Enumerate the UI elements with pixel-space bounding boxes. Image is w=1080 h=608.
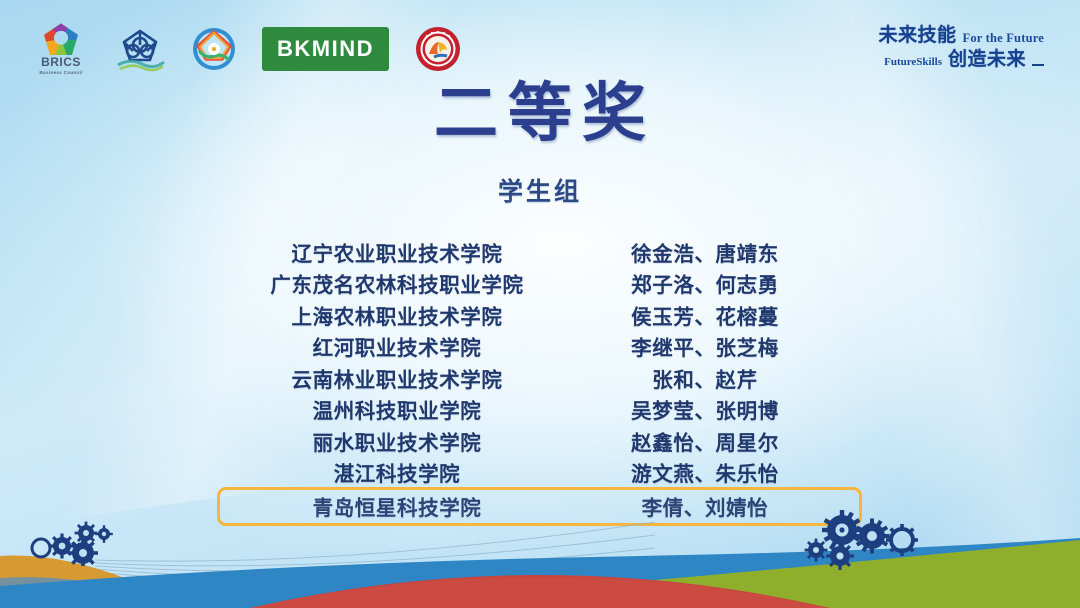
winner-names-label: 李继平、张芝梅 [631, 336, 779, 360]
futureskills-brand-lockup: 未来技能 For the Future FutureSkills 创造未来 [878, 26, 1044, 69]
winner-names-label: 郑子洛、何志勇 [631, 273, 779, 297]
winner-school-cell: 红河职业技术学院 [232, 331, 562, 361]
globe-star-emblem-logo [192, 27, 236, 71]
brics-pentagon-icon [44, 23, 78, 55]
winner-names-label: 侯玉芳、花榕蔓 [631, 305, 779, 329]
brics-business-council-logo: BRICS Business Council [34, 23, 88, 74]
winner-school-cell: 丽水职业技术学院 [232, 426, 562, 456]
winner-row: 丽水职业技术学院赵鑫怡、周星尔 [232, 425, 848, 457]
red-seal-emblem-icon [415, 26, 461, 72]
bottom-decoration [0, 500, 1080, 608]
winner-names-cell: 张和、赵芹 [562, 363, 848, 393]
winner-names-cell: 赵鑫怡、周星尔 [562, 426, 848, 456]
brand-underline-accent [1032, 64, 1044, 66]
red-seal-emblem-logo [415, 26, 461, 72]
winner-names-cell: 徐金浩、唐靖东 [562, 237, 848, 267]
winner-names-cell: 侯玉芳、花榕蔓 [562, 300, 848, 330]
winner-names-label: 吴梦莹、张明博 [631, 399, 779, 423]
brand-line-1: 未来技能 For the Future [878, 26, 1044, 45]
winner-names-cell: 游文燕、朱乐怡 [562, 457, 848, 487]
winner-school-label: 辽宁农业职业技术学院 [292, 242, 503, 266]
winner-school-cell: 辽宁农业职业技术学院 [232, 237, 562, 267]
bkmind-logo-label: BKMIND [277, 36, 374, 62]
award-slide: BRICS Business Council [0, 0, 1080, 608]
winner-school-label: 红河职业技术学院 [313, 336, 482, 360]
winner-school-label: 上海农林职业技术学院 [292, 305, 503, 329]
winner-row: 红河职业技术学院李继平、张芝梅 [232, 331, 848, 363]
winner-school-label: 温州科技职业学院 [313, 399, 482, 423]
winner-school-cell: 温州科技职业学院 [232, 394, 562, 424]
winner-names-label: 游文燕、朱乐怡 [631, 462, 779, 486]
gear-cluster-right [800, 510, 930, 570]
winner-list: 辽宁农业职业技术学院徐金浩、唐靖东广东茂名农林科技职业学院郑子洛、何志勇上海农林… [232, 236, 848, 524]
winner-names-label: 赵鑫怡、周星尔 [631, 431, 779, 455]
winner-names-cell: 吴梦莹、张明博 [562, 394, 848, 424]
winner-row: 辽宁农业职业技术学院徐金浩、唐靖东 [232, 236, 848, 268]
winner-school-cell: 广东茂名农林科技职业学院 [232, 268, 562, 298]
winner-school-label: 云南林业职业技术学院 [292, 368, 503, 392]
winner-school-cell: 湛江科技学院 [232, 457, 562, 487]
brand-cn-line2: 创造未来 [948, 50, 1026, 69]
winner-names-label: 张和、赵芹 [652, 368, 758, 392]
gear-cluster-left [28, 520, 124, 566]
knot-emblem-icon [114, 25, 166, 73]
winner-names-cell: 郑子洛、何志勇 [562, 268, 848, 298]
brand-en-line2: FutureSkills [884, 57, 942, 69]
brand-cn-line1: 未来技能 [878, 26, 956, 45]
bkmind-logo: BKMIND [262, 27, 389, 71]
winner-names-label: 徐金浩、唐靖东 [631, 242, 779, 266]
winner-row: 云南林业职业技术学院张和、赵芹 [232, 362, 848, 394]
globe-star-emblem-icon [192, 27, 236, 71]
page-subtitle: 学生组 [0, 172, 1080, 208]
winner-school-cell: 云南林业职业技术学院 [232, 363, 562, 393]
winner-names-cell: 李继平、张芝梅 [562, 331, 848, 361]
winner-row: 温州科技职业学院吴梦莹、张明博 [232, 394, 848, 426]
knot-emblem-logo [114, 25, 166, 73]
winner-school-label: 丽水职业技术学院 [313, 431, 482, 455]
sponsor-logo-bar: BRICS Business Council [34, 22, 461, 76]
winner-school-label: 湛江科技学院 [334, 462, 461, 486]
brand-line-2: FutureSkills 创造未来 [878, 50, 1044, 69]
winner-row: 湛江科技学院游文燕、朱乐怡 [232, 457, 848, 489]
winner-row: 上海农林职业技术学院侯玉芳、花榕蔓 [232, 299, 848, 331]
brics-logo-line2: Business Council [39, 70, 82, 75]
brand-en-line1: For the Future [963, 32, 1045, 46]
winner-row: 广东茂名农林科技职业学院郑子洛、何志勇 [232, 268, 848, 300]
winner-school-cell: 上海农林职业技术学院 [232, 300, 562, 330]
page-title: 二等奖 [0, 82, 1080, 146]
winner-school-label: 广东茂名农林科技职业学院 [270, 273, 523, 297]
brics-logo-line1: BRICS [41, 56, 81, 69]
